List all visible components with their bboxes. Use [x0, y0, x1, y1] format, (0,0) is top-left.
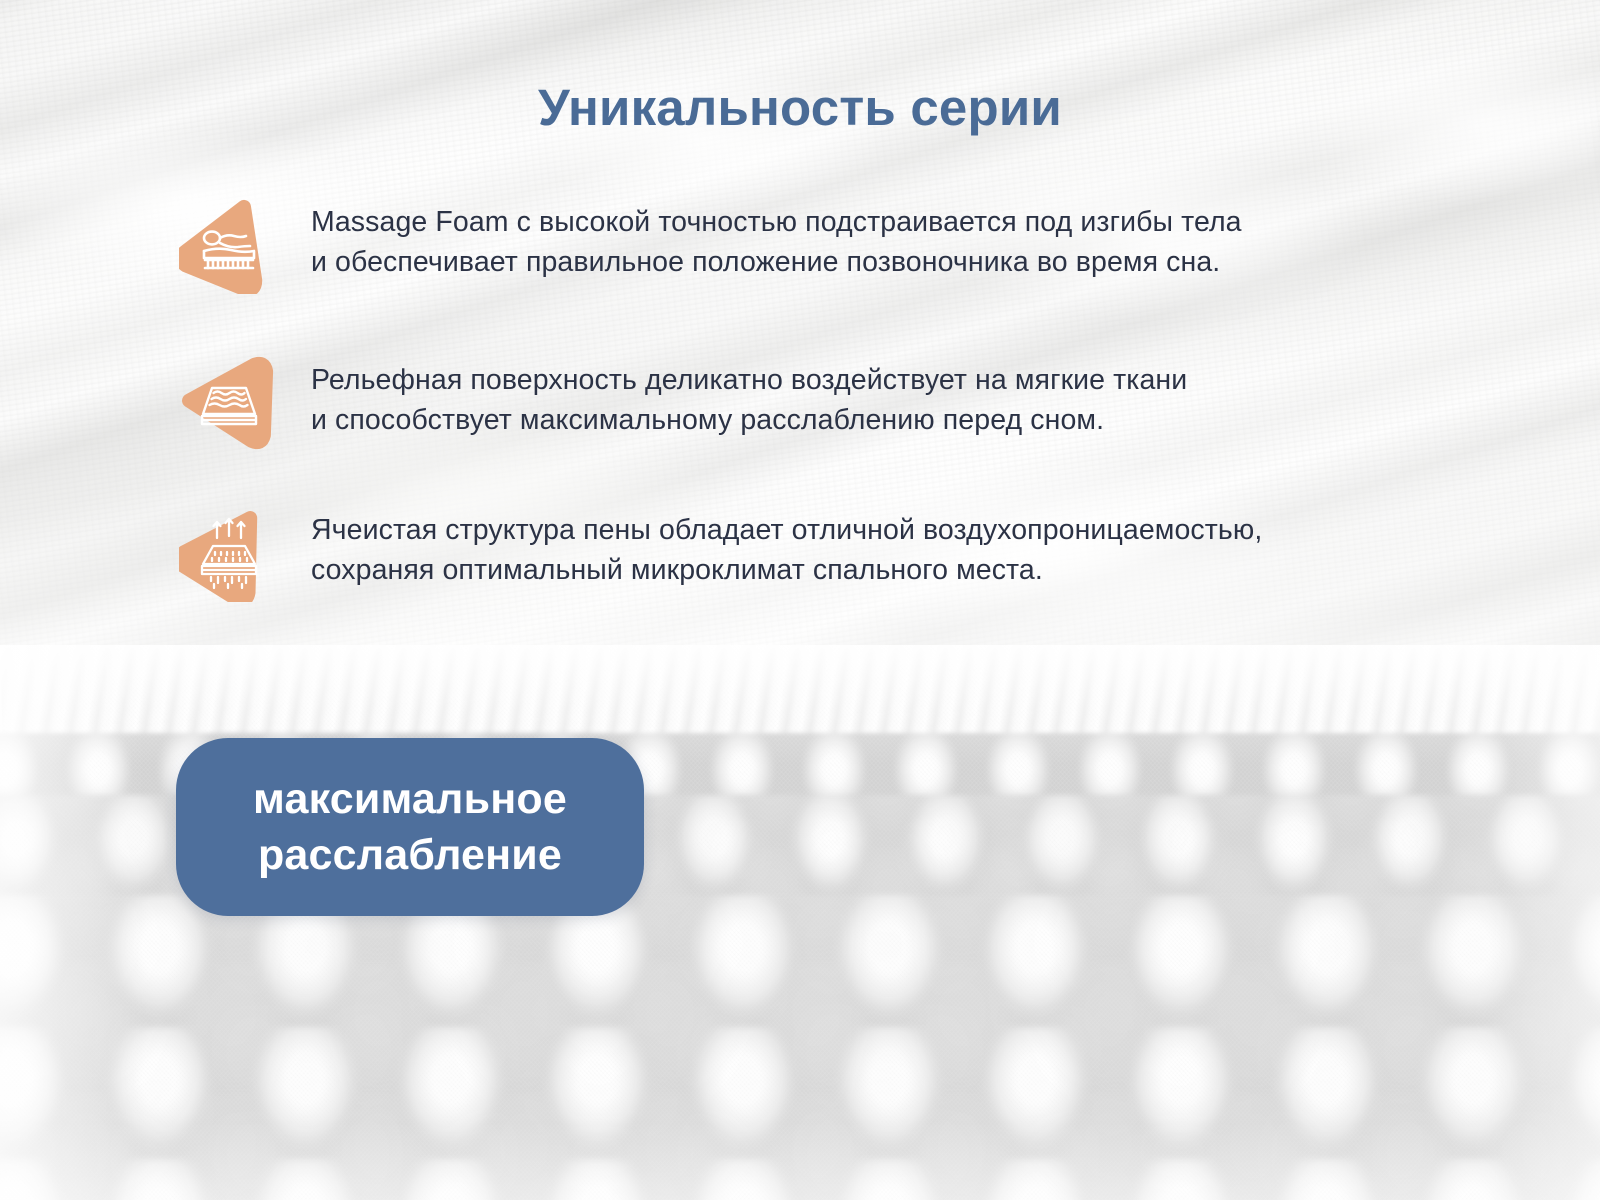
feature-icon-wrap [175, 192, 287, 300]
feature-text: Рельефная поверхность деликатно воздейст… [287, 350, 1187, 440]
promo-poster: Уникальность серии [0, 0, 1600, 1200]
feature-icon-wrap [175, 500, 287, 608]
feature-item: Рельефная поверхность деликатно воздейст… [175, 350, 1495, 458]
feature-item: Massage Foam с высокой точностью подстра… [175, 192, 1495, 300]
badge-line-1: максимальное [253, 771, 567, 827]
poster-content: Уникальность серии [0, 0, 1600, 1200]
feature-text: Ячеистая структура пены обладает отлично… [287, 500, 1262, 590]
textured-mattress-icon [179, 352, 279, 452]
status-badge: максимальное расслабление [176, 738, 644, 916]
person-on-mattress-icon [179, 194, 279, 294]
feature-list: Massage Foam с высокой точностью подстра… [175, 192, 1495, 658]
mattress-airflow-icon [179, 502, 279, 602]
feature-text: Massage Foam с высокой точностью подстра… [287, 192, 1242, 282]
badge-line-2: расслабление [258, 827, 562, 883]
page-title: Уникальность серии [0, 78, 1600, 137]
feature-item: Ячеистая структура пены обладает отлично… [175, 500, 1495, 608]
feature-icon-wrap [175, 350, 287, 458]
